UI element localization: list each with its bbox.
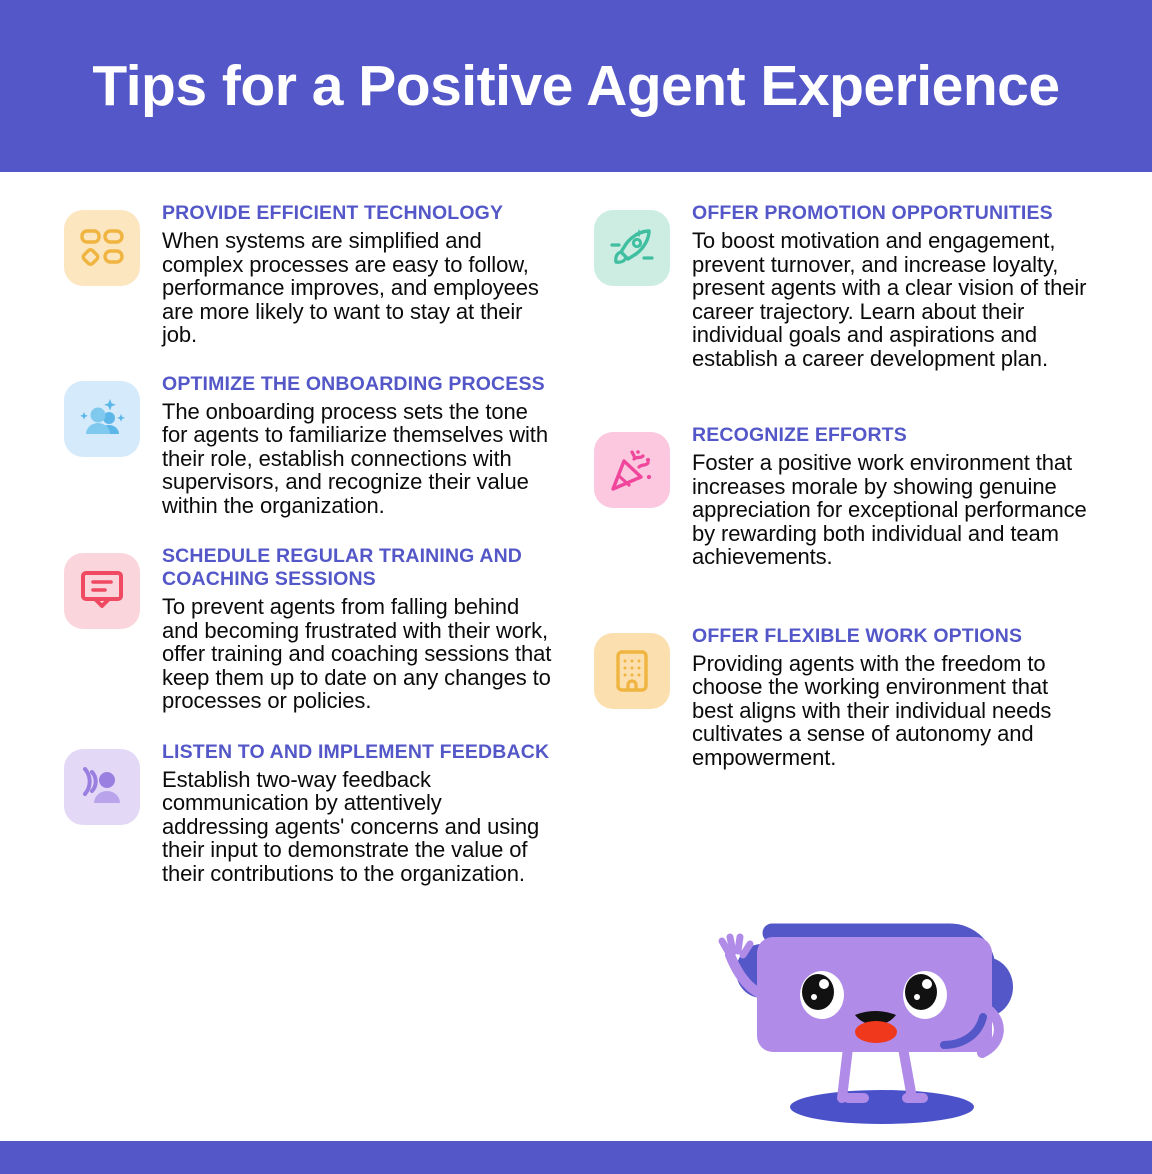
- tip-heading: OFFER FLEXIBLE WORK OPTIONS: [692, 625, 1094, 648]
- tip-body: LISTEN TO AND IMPLEMENT FEEDBACK Establi…: [162, 739, 554, 886]
- tip-text: The onboarding process sets the tone for…: [162, 400, 554, 518]
- party-popper-icon: [608, 446, 656, 494]
- tip-schedule-regular-training: SCHEDULE REGULAR TRAINING AND COACHING S…: [64, 543, 554, 713]
- listening-person-icon-tile: [64, 749, 140, 825]
- tip-body: RECOGNIZE EFFORTS Foster a positive work…: [692, 422, 1094, 569]
- mascot-shadow: [790, 1090, 974, 1124]
- presentation-board-icon: [79, 568, 125, 614]
- people-sparkle-icon: [77, 394, 127, 444]
- tip-body: OFFER FLEXIBLE WORK OPTIONS Providing ag…: [692, 623, 1094, 770]
- left-column: PROVIDE EFFICIENT TECHNOLOGY When system…: [64, 200, 554, 885]
- tip-body: OFFER PROMOTION OPPORTUNITIES To boost m…: [692, 200, 1094, 370]
- infographic-page: Tips for a Positive Agent Experience PRO…: [0, 0, 1152, 1174]
- tip-heading: OFFER PROMOTION OPPORTUNITIES: [692, 202, 1094, 225]
- tip-text: To prevent agents from falling behind an…: [162, 595, 554, 713]
- tip-body: SCHEDULE REGULAR TRAINING AND COACHING S…: [162, 543, 554, 713]
- tip-text: Establish two-way feedback communication…: [162, 768, 554, 886]
- tip-text: When systems are simplified and complex …: [162, 229, 554, 347]
- tip-heading: LISTEN TO AND IMPLEMENT FEEDBACK: [162, 741, 554, 764]
- tip-heading: PROVIDE EFFICIENT TECHNOLOGY: [162, 202, 554, 225]
- rocket-icon-tile: [594, 210, 670, 286]
- tip-body: OPTIMIZE THE ONBOARDING PROCESS The onbo…: [162, 371, 554, 518]
- tip-offer-flexible-work-options: OFFER FLEXIBLE WORK OPTIONS Providing ag…: [594, 623, 1094, 770]
- party-popper-icon-tile: [594, 432, 670, 508]
- mascot-left-eye: [800, 971, 844, 1019]
- presentation-board-icon-tile: [64, 553, 140, 629]
- footer-band: [0, 1141, 1152, 1174]
- tip-listen-implement-feedback: LISTEN TO AND IMPLEMENT FEEDBACK Establi…: [64, 739, 554, 886]
- grid-shapes-icon-tile: [64, 210, 140, 286]
- tip-offer-promotion-opportunities: OFFER PROMOTION OPPORTUNITIES To boost m…: [594, 200, 1094, 370]
- grid-shapes-icon: [79, 225, 125, 271]
- mascot-right-eye: [903, 971, 947, 1019]
- mascot-svg: [700, 893, 1080, 1133]
- listening-person-icon: [78, 763, 126, 811]
- tip-recognize-efforts: RECOGNIZE EFFORTS Foster a positive work…: [594, 422, 1094, 569]
- rocket-icon: [608, 224, 656, 272]
- agent-mascot-illustration: [700, 893, 1080, 1133]
- mascot-hand: [722, 937, 750, 955]
- page-title: Tips for a Positive Agent Experience: [92, 53, 1059, 119]
- tip-optimize-onboarding-process: OPTIMIZE THE ONBOARDING PROCESS The onbo…: [64, 371, 554, 518]
- tip-text: To boost motivation and engagement, prev…: [692, 229, 1094, 370]
- mascot-mouth: [855, 1011, 897, 1043]
- tip-heading: RECOGNIZE EFFORTS: [692, 424, 1094, 447]
- header-band: Tips for a Positive Agent Experience: [0, 0, 1152, 172]
- tip-heading: SCHEDULE REGULAR TRAINING AND COACHING S…: [162, 545, 554, 591]
- mascot-right-leg: [903, 1048, 912, 1098]
- people-sparkle-icon-tile: [64, 381, 140, 457]
- office-building-icon-tile: [594, 633, 670, 709]
- tip-provide-efficient-technology: PROVIDE EFFICIENT TECHNOLOGY When system…: [64, 200, 554, 347]
- tip-heading: OPTIMIZE THE ONBOARDING PROCESS: [162, 373, 554, 396]
- tip-text: Foster a positive work environment that …: [692, 451, 1094, 569]
- office-building-icon: [611, 649, 653, 693]
- mascot-left-leg: [842, 1048, 848, 1098]
- right-column: OFFER PROMOTION OPPORTUNITIES To boost m…: [594, 200, 1094, 769]
- tip-body: PROVIDE EFFICIENT TECHNOLOGY When system…: [162, 200, 554, 347]
- tip-text: Providing agents with the freedom to cho…: [692, 652, 1094, 770]
